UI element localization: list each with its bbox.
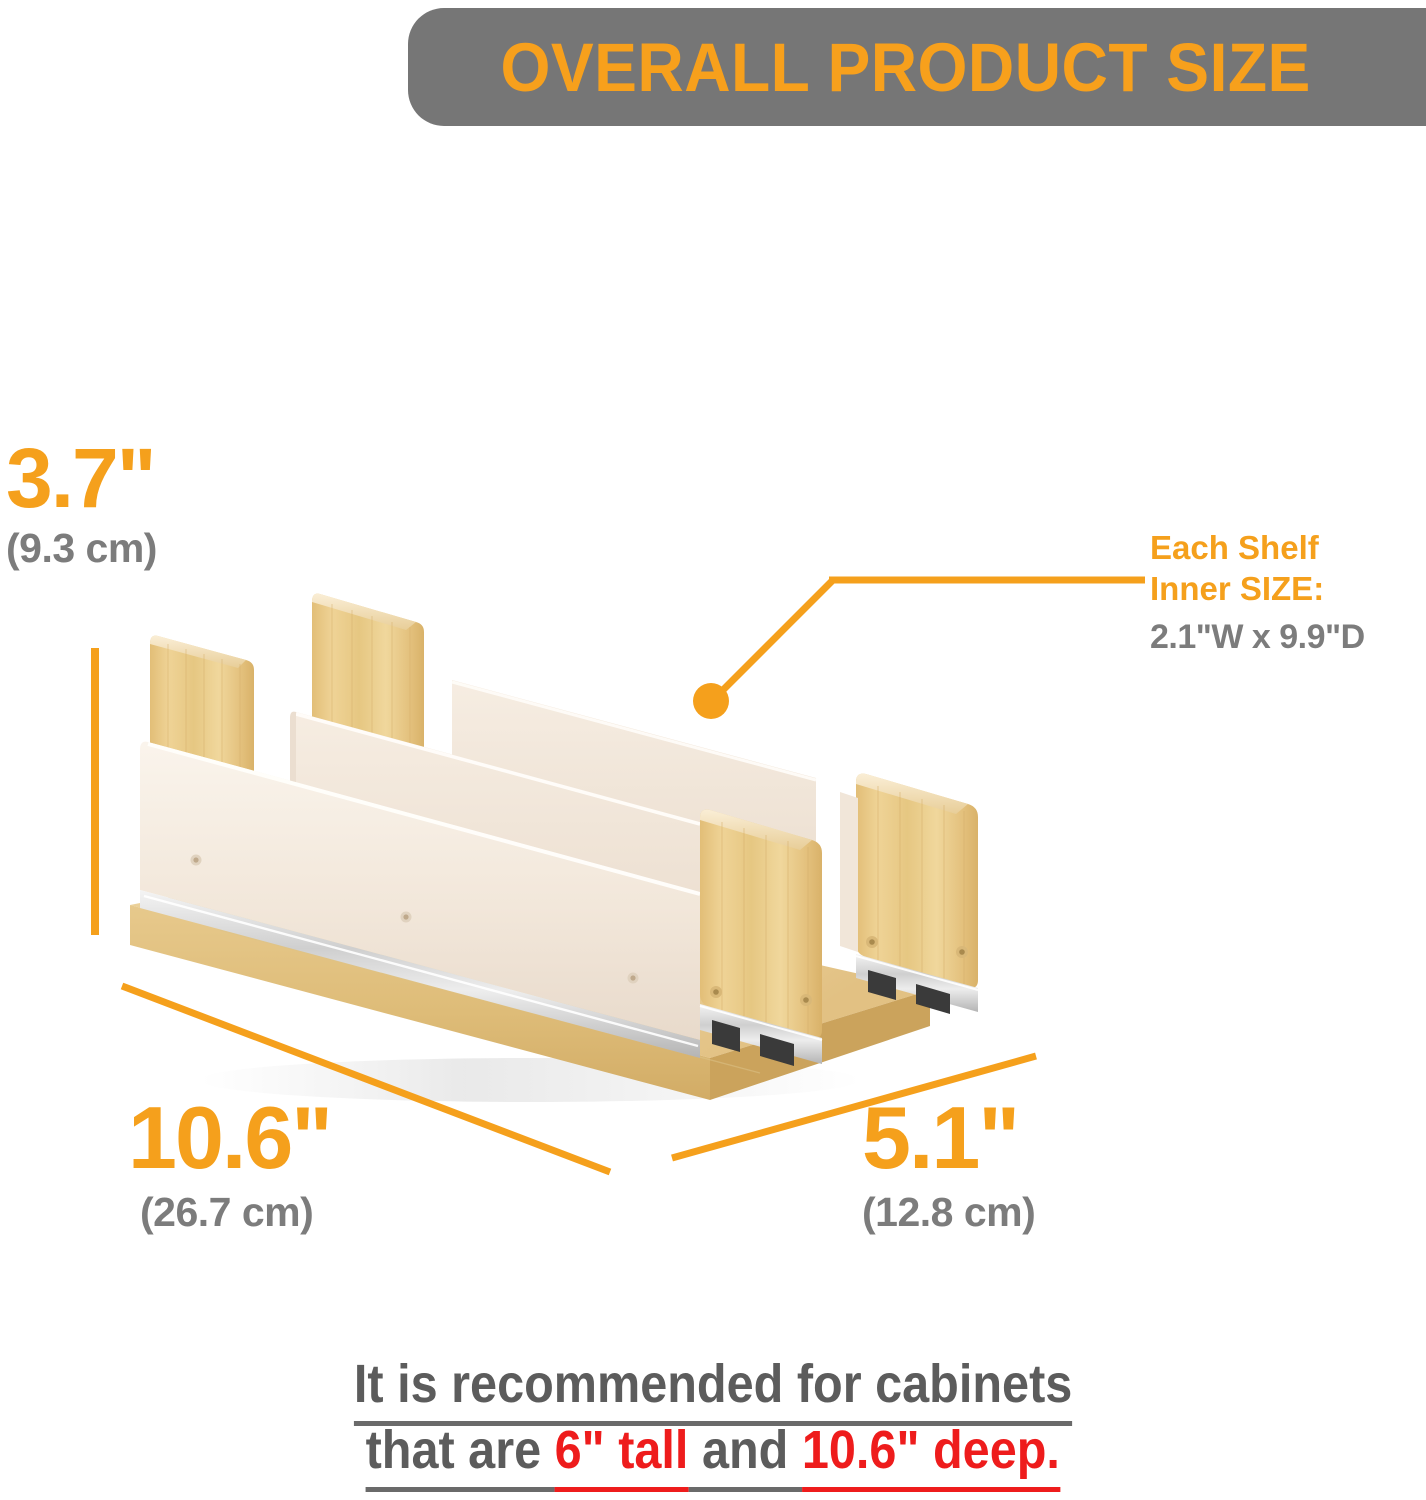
bamboo-end-panel-left [700, 810, 822, 1038]
recommendation-line-1: It is recommended for cabinets [354, 1352, 1072, 1418]
recommendation-block: It is recommended for cabinets that are … [0, 1352, 1426, 1484]
bamboo-end-panel-right [856, 774, 978, 988]
depth-cm: (12.8 cm) [862, 1189, 1035, 1236]
width-inches: 10.6" [128, 1098, 331, 1179]
callout-line-1: Each Shelf [1150, 528, 1426, 569]
page-title: OVERALL PRODUCT SIZE [501, 33, 1311, 102]
recommendation-highlight-depth: 10.6" deep. [802, 1420, 1060, 1492]
recommendation-text-2b: and [689, 1420, 802, 1492]
product-illustration [100, 560, 1060, 1120]
depth-inches: 5.1" [862, 1098, 1035, 1179]
recommendation-text-2a: that are [366, 1420, 555, 1492]
recommendation-line-2: that are 6" tall and 10.6" deep. [366, 1418, 1060, 1484]
width-cm: (26.7 cm) [140, 1189, 331, 1236]
recommendation-highlight-height: 6" tall [555, 1420, 689, 1492]
shelf-inner-size-callout: Each Shelf Inner SIZE: 2.1"W x 9.9"D [1150, 528, 1426, 658]
infographic-canvas: OVERALL PRODUCT SIZE [0, 0, 1426, 1500]
dimension-height: 3.7" (9.3 cm) [6, 440, 157, 572]
height-cm: (9.3 cm) [6, 525, 157, 572]
callout-line-2: Inner SIZE: [1150, 569, 1426, 610]
callout-line-3: 2.1"W x 9.9"D [1150, 616, 1426, 658]
recommendation-text-1: It is recommended for cabinets [354, 1354, 1072, 1426]
height-inches: 3.7" [6, 440, 157, 517]
dimension-width: 10.6" (26.7 cm) [128, 1098, 331, 1236]
dimension-depth: 5.1" (12.8 cm) [862, 1098, 1035, 1236]
header-banner: OVERALL PRODUCT SIZE [408, 8, 1426, 126]
